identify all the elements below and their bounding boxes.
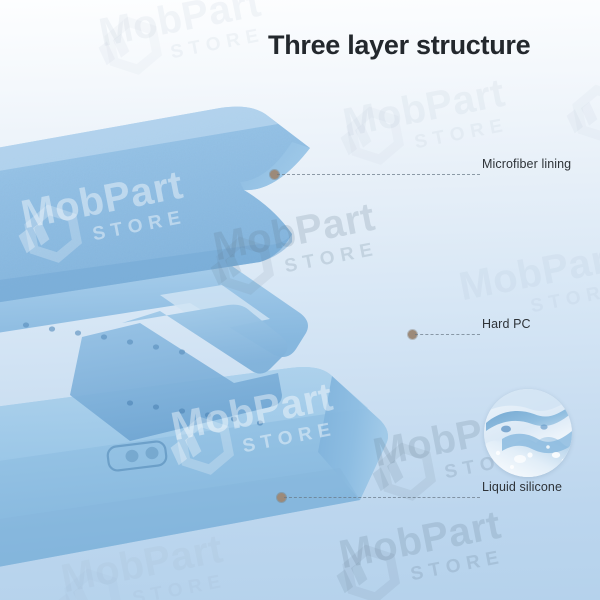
callout-label: Liquid silicone [482,480,562,494]
product-infographic: MobPartSTOREMobPartSTOREMobPartSTOREMobP… [0,0,600,600]
callout-label: Hard PC [482,317,531,331]
callout-leader-line [277,174,480,175]
case-layers-illustration [0,0,600,600]
page-title: Three layer structure [268,30,530,61]
callout-leader-line [415,334,480,335]
callout-label: Microfiber lining [482,157,571,171]
microfiber-sheet-layer [0,96,400,326]
liquid-silicone-inset-image [484,389,572,477]
callout-leader-line [284,497,480,498]
